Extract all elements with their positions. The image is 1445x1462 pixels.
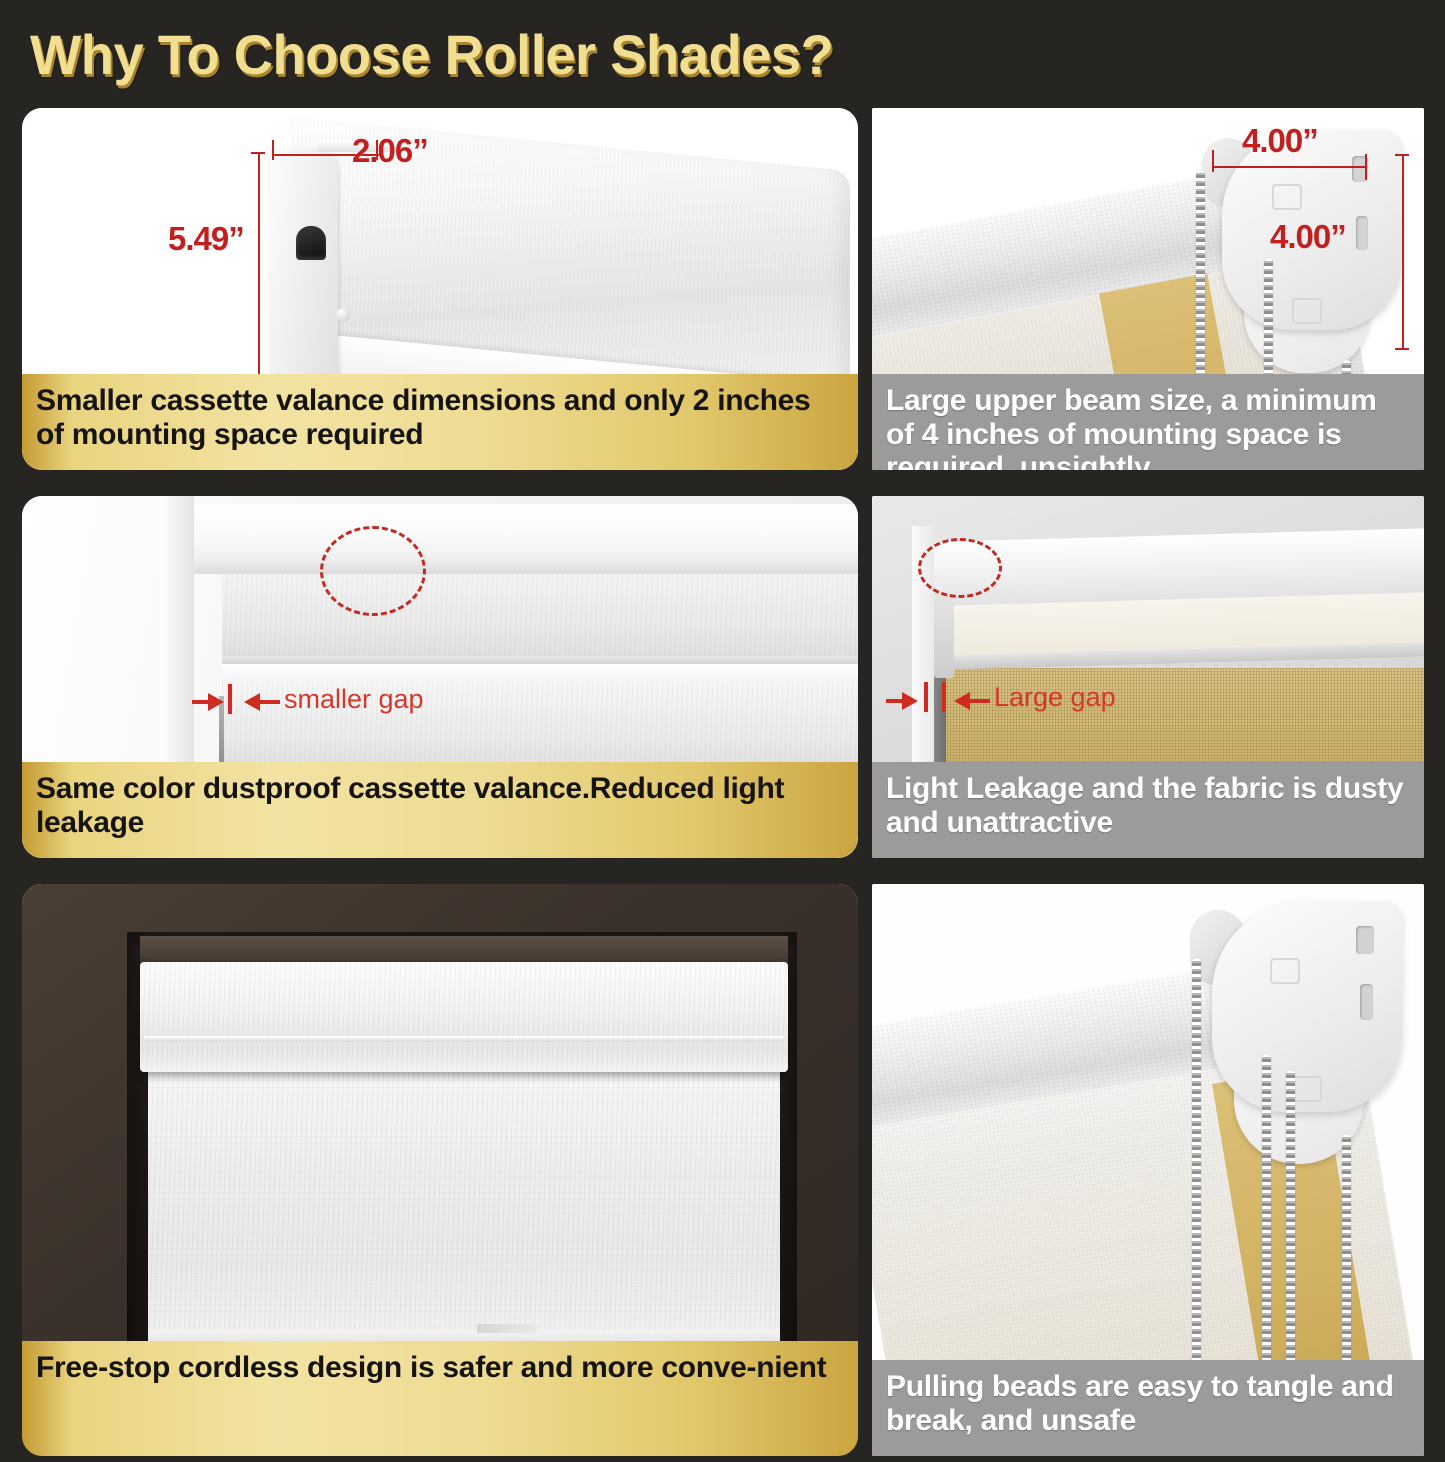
- gap-arrow-left-icon: [244, 693, 260, 711]
- bracket-emblem-upper: [1270, 958, 1300, 984]
- beam-height-label: 4.00”: [1270, 218, 1346, 256]
- gap-arrow-right-stem: [886, 699, 906, 703]
- panel-6-caption: Pulling beads are easy to tangle and bre…: [872, 1360, 1424, 1456]
- infographic-page: Why To Choose Roller Shades?: [0, 0, 1445, 1445]
- bracket-emblem-lower: [1292, 298, 1322, 324]
- shade-bracket: [934, 592, 954, 678]
- panel-5-cordless-design: Free-stop cordless design is safer and m…: [22, 884, 858, 1456]
- panel-2-caption: Large upper beam size, a minimum of 4 in…: [872, 374, 1424, 470]
- gap-marker-bar-a: [924, 682, 928, 712]
- valance-seam-line: [144, 1036, 784, 1042]
- valance-slot: [296, 226, 326, 260]
- panel-5-caption: Free-stop cordless design is safer and m…: [22, 1341, 858, 1456]
- panel-4-caption: Light Leakage and the fabric is dusty an…: [872, 762, 1424, 858]
- beam-height-dim-line: [1402, 154, 1404, 350]
- panel-6-pulling-beads: Pulling beads are easy to tangle and bre…: [872, 884, 1424, 1456]
- gap-arrow-left-stem: [260, 700, 280, 704]
- highlight-circle-icon: [320, 526, 426, 616]
- gap-arrow-left-icon: [954, 692, 970, 710]
- valance-small-screw: [336, 308, 350, 322]
- width-dim-tick-left: [272, 140, 274, 160]
- beam-height-tick-top: [1395, 154, 1409, 156]
- beam-width-tick-left: [1212, 150, 1214, 172]
- beam-width-tick-right: [1365, 154, 1367, 180]
- large-gap-label: Large gap: [994, 682, 1116, 713]
- panel-4-light-leakage: Large gap Light Leakage and the fabric i…: [872, 496, 1424, 858]
- panel-grid: 2.06” 5.49” Smaller cassette valance dim…: [0, 108, 1445, 1462]
- panel-row-1: 2.06” 5.49” Smaller cassette valance dim…: [0, 108, 1445, 476]
- panel-3-caption: Same color dustproof cassette valance.Re…: [22, 762, 858, 858]
- beam-width-label: 4.00”: [1242, 122, 1318, 160]
- height-dim-tick-top: [251, 152, 265, 154]
- roller-shade-fabric: [148, 1070, 780, 1340]
- shade-pull-tab: [477, 1324, 537, 1333]
- bracket-slot-upper: [1356, 926, 1374, 954]
- bracket-slot-lower: [1360, 984, 1373, 1020]
- bracket-slot-lower: [1356, 216, 1368, 250]
- beam-height-tick-bottom: [1395, 348, 1409, 350]
- panel-1-smaller-cassette: 2.06” 5.49” Smaller cassette valance dim…: [22, 108, 858, 470]
- height-dimension-label: 5.49”: [168, 220, 244, 258]
- bracket-emblem-upper: [1272, 184, 1302, 210]
- valance-face: [222, 570, 858, 666]
- panel-3-dustproof-valance: smaller gap Same color dustproof cassett…: [22, 496, 858, 858]
- highlight-circle-icon: [918, 538, 1002, 598]
- panel-1-caption: Smaller cassette valance dimensions and …: [22, 374, 858, 470]
- window-frame-top-lip: [172, 556, 858, 574]
- valance-seam: [222, 664, 858, 682]
- cassette-valance: [140, 962, 788, 1072]
- panel-row-3: Free-stop cordless design is safer and m…: [0, 884, 1445, 1462]
- page-title: Why To Choose Roller Shades?: [30, 22, 833, 87]
- gap-marker-bar-b: [942, 682, 946, 712]
- smaller-gap-label: smaller gap: [284, 684, 424, 715]
- bracket-emblem-lower: [1292, 1076, 1322, 1102]
- width-dimension-label: 2.06”: [352, 132, 428, 170]
- gap-marker-bar: [228, 684, 232, 714]
- panel-row-2: smaller gap Same color dustproof cassett…: [0, 496, 1445, 864]
- gap-arrow-left-stem: [970, 699, 990, 703]
- gap-arrow-right-stem: [192, 700, 212, 704]
- beam-width-dim-line: [1212, 166, 1367, 168]
- panel-2-large-beam: 4.00” 4.00” Large upper beam size, a min…: [872, 108, 1424, 470]
